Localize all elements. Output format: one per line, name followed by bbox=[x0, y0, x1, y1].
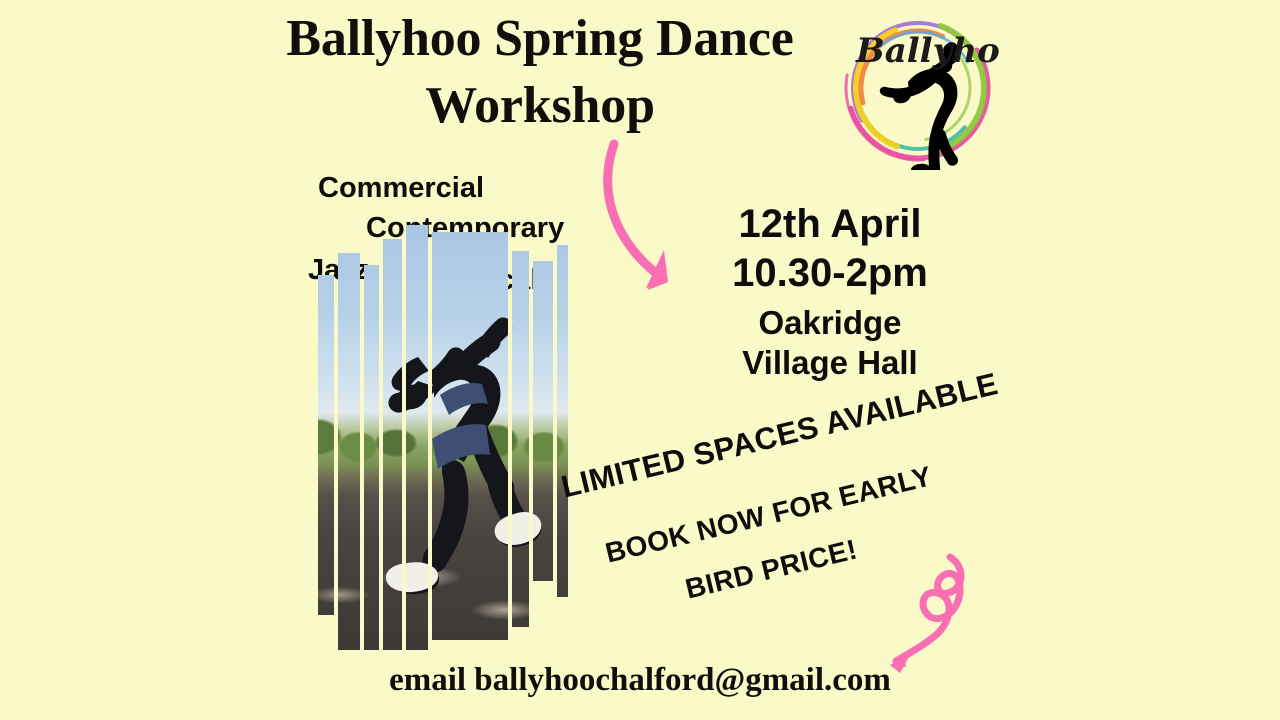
collage-strip-image bbox=[338, 253, 360, 650]
collage-strip-image bbox=[406, 225, 428, 650]
collage-strip bbox=[383, 239, 402, 663]
collage-strip-image bbox=[318, 275, 334, 615]
event-time: 10.30-2pm bbox=[660, 252, 1000, 295]
collage-strip-image bbox=[512, 251, 529, 627]
promo-limited-spaces: LIMITED SPACES AVAILABLE bbox=[558, 366, 1002, 506]
collage-strip bbox=[338, 253, 360, 653]
collage-strip-image bbox=[364, 265, 379, 650]
style-label-commercial: Commercial bbox=[318, 172, 484, 205]
logo-wordmark: Ballyhoo bbox=[855, 31, 1000, 71]
ballyhoo-logo: Ballyhoo bbox=[836, 6, 1000, 170]
title-line-2: Workshop bbox=[210, 73, 870, 140]
collage-strip-image bbox=[533, 261, 553, 581]
event-details: 12th April 10.30-2pm Oakridge Village Ha… bbox=[660, 203, 1000, 381]
page-title: Ballyhoo Spring Dance Workshop bbox=[210, 6, 870, 139]
collage-strip bbox=[576, 290, 594, 580]
collage-strip-image bbox=[432, 232, 508, 640]
collage-strip bbox=[318, 275, 334, 615]
collage-strip bbox=[512, 251, 529, 627]
collage-strip bbox=[533, 261, 553, 581]
collage-strip bbox=[557, 245, 572, 597]
venue-line-2: Village Hall bbox=[660, 345, 1000, 381]
venue-line-1: Oakridge bbox=[660, 305, 1000, 341]
title-line-1: Ballyhoo Spring Dance bbox=[210, 6, 870, 73]
collage-strip bbox=[432, 232, 508, 640]
collage-strip-image bbox=[383, 239, 402, 650]
event-date: 12th April bbox=[660, 203, 1000, 246]
dancer-photo-collage bbox=[300, 225, 568, 650]
collage-strip bbox=[406, 225, 428, 650]
collage-strip-image bbox=[557, 245, 568, 597]
collage-strip bbox=[364, 265, 379, 657]
poster-canvas: Ballyhoo Spring Dance Workshop bbox=[0, 0, 1280, 720]
contact-email: email ballyhoochalford@gmail.com bbox=[0, 662, 1280, 699]
